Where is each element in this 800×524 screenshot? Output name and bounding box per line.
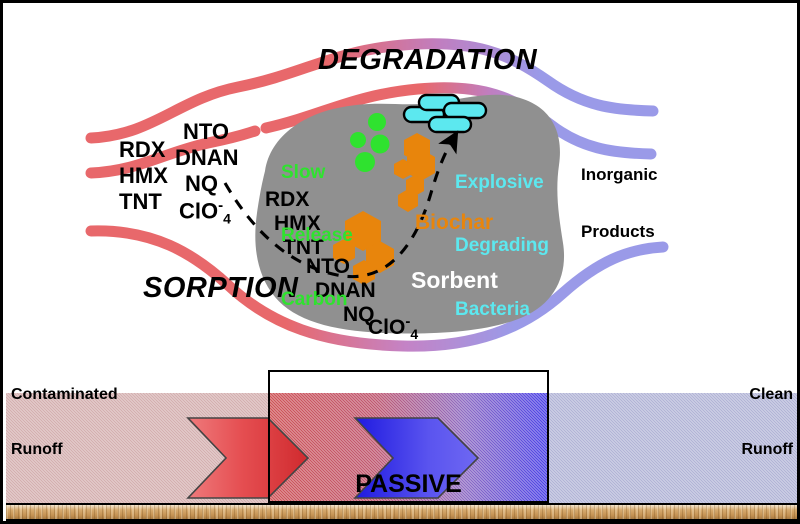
figure-canvas: DEGRADATION SORPTION RDX HMX TNT NTO DNA… (0, 0, 800, 524)
contaminated-runoff-label: Contaminated Runoff (11, 350, 118, 496)
technology-line1: PASSIVE (268, 469, 549, 500)
clean-runoff-label: Clean Runoff (643, 350, 793, 496)
contaminated-runoff-line1: Contaminated (11, 386, 118, 404)
clean-runoff-line1: Clean (643, 386, 793, 404)
contaminated-runoff-line2: Runoff (11, 441, 118, 459)
clean-runoff-line2: Runoff (643, 441, 793, 459)
technology-label: PASSIVE “Trap and Treat” TECHNOLOGY (268, 407, 549, 524)
